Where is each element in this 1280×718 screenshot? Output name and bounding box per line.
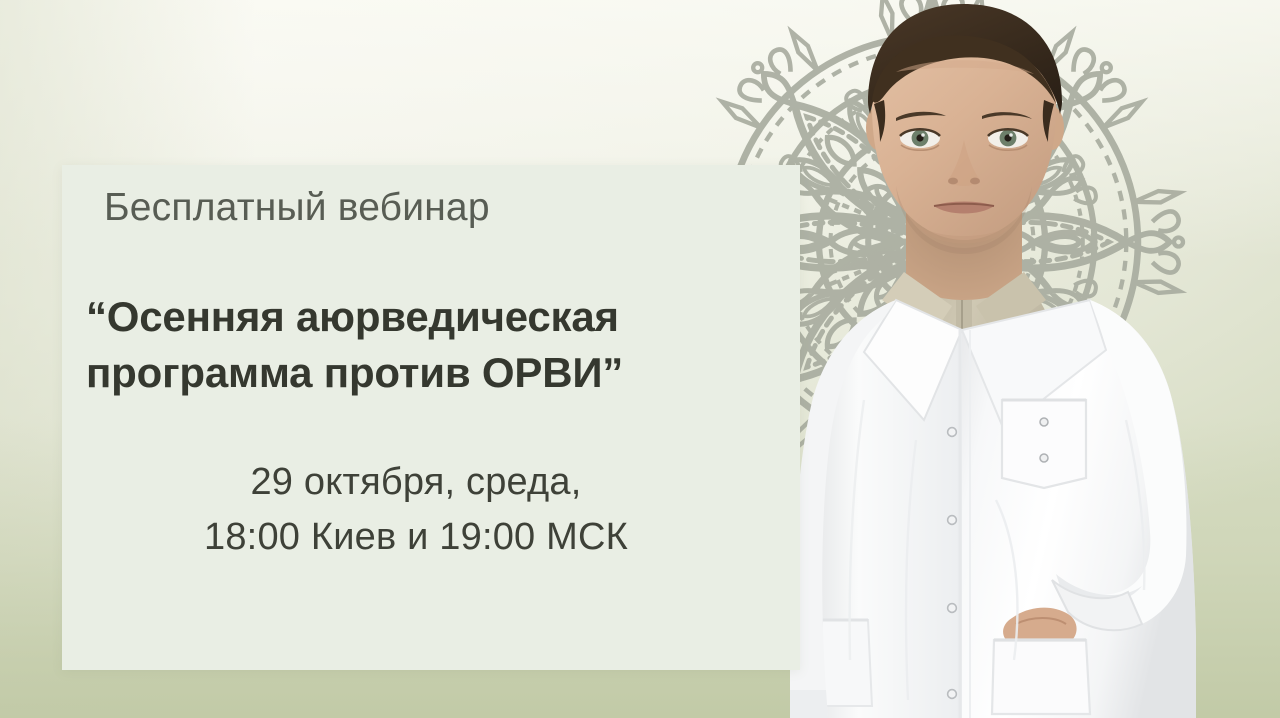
doctor-portrait xyxy=(756,0,1280,718)
event-datetime: 29 октября, среда, 18:00 Киев и 19:00 МС… xyxy=(86,455,746,565)
headline-line-1: “Осенняя аюрведическая xyxy=(86,289,786,345)
headline-line-2: программа против ОРВИ” xyxy=(86,345,786,401)
banner-canvas: Бесплатный вебинар “Осенняя аюрведическа… xyxy=(0,0,1280,718)
event-time: 18:00 Киев и 19:00 МСК xyxy=(86,510,746,565)
card-kicker: Бесплатный вебинар xyxy=(104,187,490,230)
page-title: “Осенняя аюрведическая программа против … xyxy=(86,289,786,402)
webinar-info-card: Бесплатный вебинар “Осенняя аюрведическа… xyxy=(62,165,800,670)
event-date: 29 октября, среда, xyxy=(86,455,746,510)
